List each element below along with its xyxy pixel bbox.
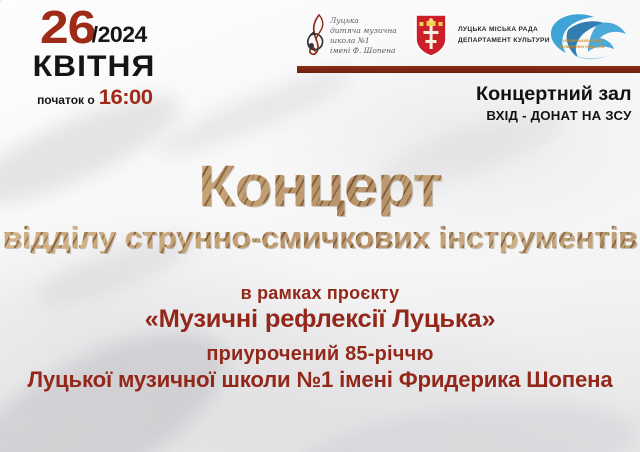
- project-name-text: «Музичні рефлексії Луцька»: [0, 307, 640, 332]
- background-smudge: [297, 390, 640, 452]
- lutsk-coat-of-arms-icon: [414, 13, 448, 57]
- red-divider-rule: [297, 66, 640, 73]
- music-school-line-1: Луцька: [330, 16, 422, 26]
- lutsk-city-council-logo: ЛУЦЬКА МІСЬКА РАДА ДЕПАРТАМЕНТ КУЛЬТУРИ: [414, 10, 550, 62]
- music-school-line-3: імені Ф. Шопена: [330, 46, 422, 56]
- year-text: /2024: [91, 24, 146, 50]
- music-school-line-2: дитяча музична школа №1: [330, 26, 422, 46]
- month-text: КВІТНЯ: [9, 52, 179, 82]
- anniversary-text: приурочений 85-річчю: [0, 344, 640, 364]
- poster-main-title: Концерт: [0, 158, 640, 216]
- city-council-text: ЛУЦЬКА МІСЬКА РАДА ДЕПАРТАМЕНТ КУЛЬТУРИ: [458, 24, 550, 46]
- logo-strip: Луцька дитяча музична школа №1 імені Ф. …: [296, 8, 640, 64]
- school-name-text: Луцької музичної школи №1 імені Фридерик…: [0, 369, 640, 391]
- stylized-bird-icon: [544, 8, 636, 66]
- start-time-value: 16:00: [98, 87, 152, 108]
- venue-block: Концертний зал ВХІД - ДОНАТ НА ЗСУ: [482, 84, 632, 124]
- city-council-line-2: ДЕПАРТАМЕНТ КУЛЬТУРИ: [458, 35, 550, 46]
- date-block: 26 /2024 КВІТНЯ початок о 16:00: [14, 4, 174, 108]
- poster-subtitle: відділу струнно-смичкових інструментів: [0, 222, 640, 253]
- music-school-script-text: Луцька дитяча музична школа №1 імені Ф. …: [330, 16, 422, 57]
- venue-hall-label: Концертний зал: [476, 84, 632, 105]
- day-number: 26: [40, 4, 95, 50]
- background-smudge: [151, 58, 358, 168]
- venue-entry-label: ВХІД - ДОНАТ НА ЗСУ: [479, 109, 632, 124]
- city-council-line-1: ЛУЦЬКА МІСЬКА РАДА: [458, 24, 550, 35]
- culture-fund-bird-logo: УКРАЇНСЬКИЙ ФОНД КУЛЬТУРНИХ ІНІЦІАТИВ: [544, 8, 636, 66]
- music-school-signature-logo: Луцька дитяча музична школа №1 імені Ф. …: [304, 12, 422, 60]
- start-time-row: початок о 16:00: [14, 87, 174, 108]
- start-time-label: початок о: [37, 94, 95, 106]
- event-poster: 26 /2024 КВІТНЯ початок о 16:00 Луцька д…: [0, 0, 640, 452]
- project-intro-text: в рамках проєкту: [0, 284, 640, 302]
- culture-fund-caption: УКРАЇНСЬКИЙ ФОНД КУЛЬТУРНИХ ІНІЦІАТИВ: [556, 38, 608, 51]
- date-row: 26 /2024: [14, 4, 174, 50]
